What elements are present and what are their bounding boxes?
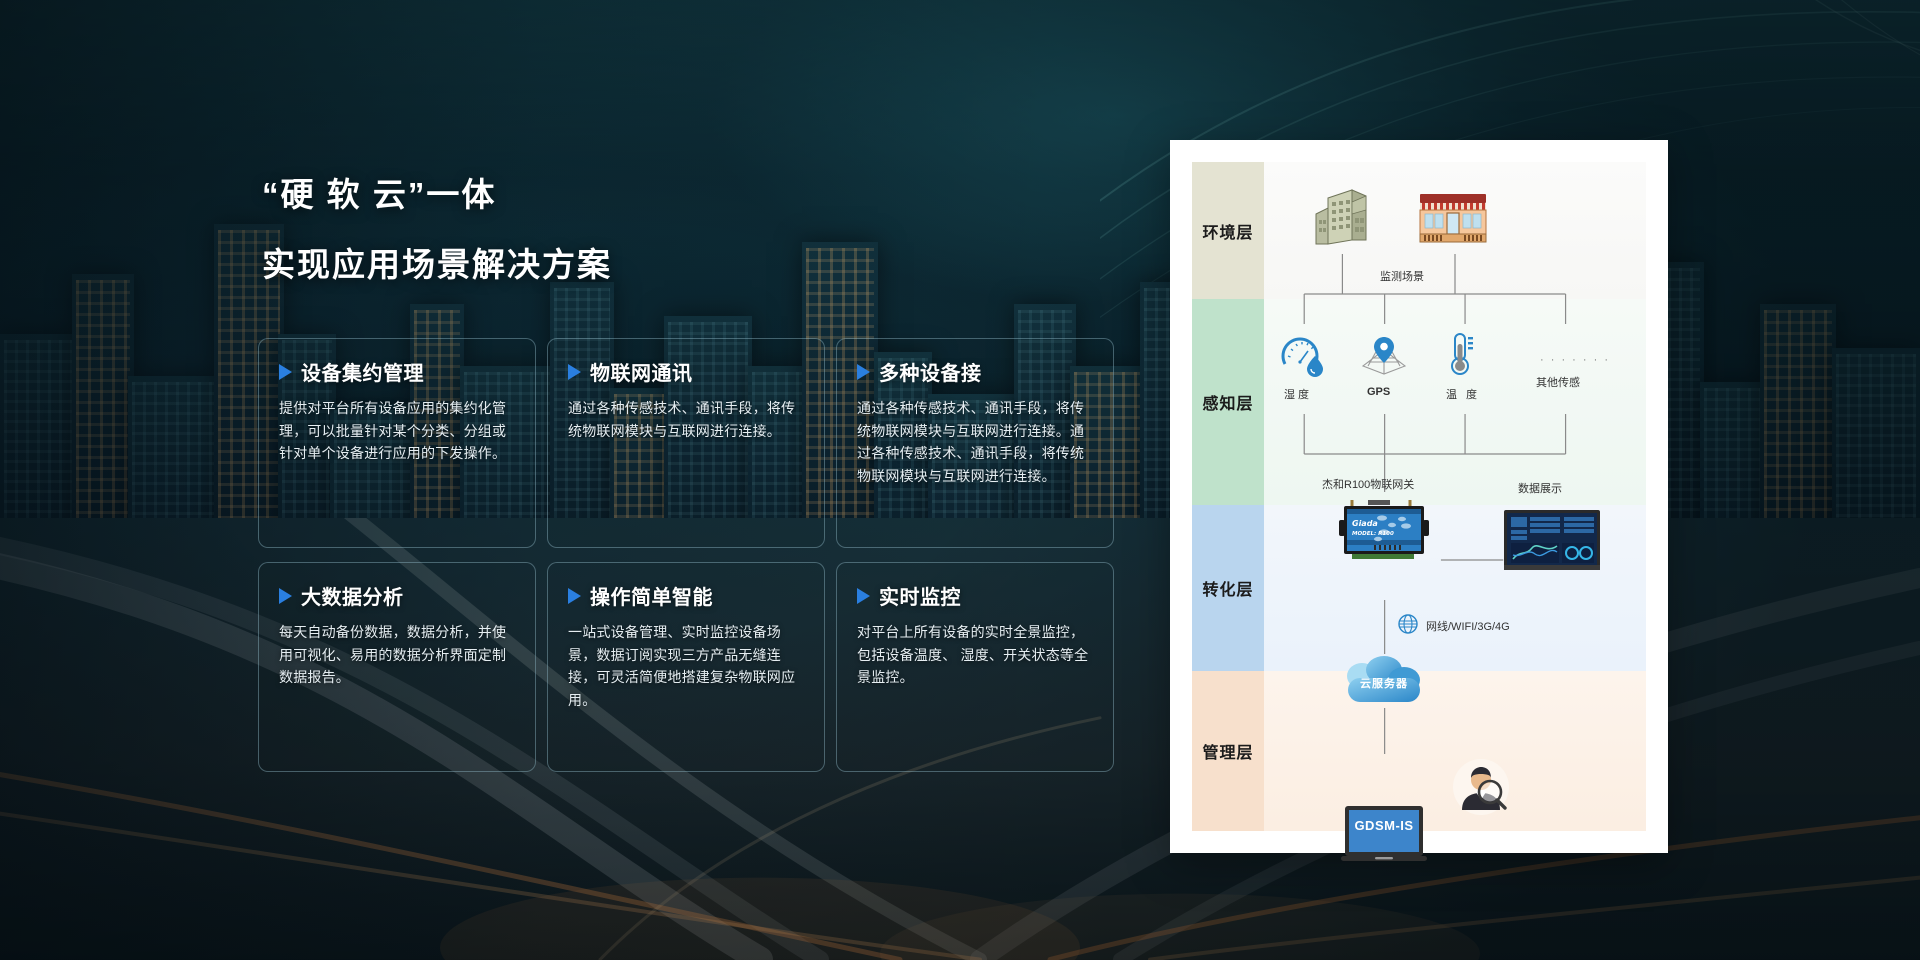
card-header: 设备集约管理 xyxy=(279,357,515,386)
layer-label: 环境层 xyxy=(1202,219,1253,243)
sensor-label-humidity: 湿度 xyxy=(1284,386,1312,402)
page-headline: “硬 软 云”一体 实现应用场景解决方案 xyxy=(262,168,612,286)
card-header: 大数据分析 xyxy=(279,581,515,610)
card-header: 多种设备接 xyxy=(857,357,1093,386)
sensor-label-temperature: 温 度 xyxy=(1446,386,1480,402)
layer-sensing: 感知层 xyxy=(1192,299,1264,505)
svg-text:MODEL: R100: MODEL: R100 xyxy=(1352,531,1394,537)
svg-text:Giada: Giada xyxy=(1352,519,1378,528)
feature-card-device-management[interactable]: 设备集约管理 提供对平台所有设备应用的集约化管理，可以批量针对某个分类、分组或针… xyxy=(258,338,536,548)
cloud-server-label: 云服务器 xyxy=(1340,654,1428,706)
triangle-bullet-icon xyxy=(568,588,581,604)
shop-storefront-icon xyxy=(1416,192,1490,249)
globe-network-icon xyxy=(1398,614,1418,639)
gdsm-is-platform-icon[interactable]: GDSM-IS xyxy=(1341,806,1427,864)
layer-conversion: 转化层 xyxy=(1192,505,1264,671)
triangle-bullet-icon xyxy=(857,364,870,380)
network-label: 网线/WIFI/3G/4G xyxy=(1426,618,1510,634)
feature-card-simple-smart-operation[interactable]: 操作简单智能 一站式设备管理、实时监控设备场景，数据订阅实现三方产品无缝连接，可… xyxy=(547,562,825,772)
architecture-diagram-panel: 环境层 感知层 转化层 管理层 xyxy=(1170,140,1668,853)
user-with-magnifier-icon xyxy=(1452,758,1510,816)
feature-card-realtime-monitoring[interactable]: 实时监控 对平台上所有设备的实时全景监控，包括设备温度、 湿度、开关状态等全景监… xyxy=(836,562,1114,772)
card-body-text: 每天自动备份数据，数据分析，并使用可视化、易用的数据分析界面定制数据报告。 xyxy=(279,621,515,689)
card-body-text: 通过各种传感技术、通讯手段，将传统物联网模块与互联网进行连接。通过各种传感技术、… xyxy=(857,397,1093,488)
headline-line-2: 实现应用场景解决方案 xyxy=(262,238,612,286)
triangle-bullet-icon xyxy=(279,588,292,604)
triangle-bullet-icon xyxy=(568,364,581,380)
office-building-icon xyxy=(1308,188,1374,255)
triangle-bullet-icon xyxy=(857,588,870,604)
data-dashboard-monitor-icon xyxy=(1504,510,1600,575)
gateway-caption: 杰和R100物联网关 xyxy=(1322,476,1414,492)
card-title: 设备集约管理 xyxy=(301,357,424,386)
layer-label: 转化层 xyxy=(1202,576,1253,600)
card-header: 实时监控 xyxy=(857,581,1093,610)
card-body-text: 一站式设备管理、实时监控设备场景，数据订阅实现三方产品无缝连接，可灵活简便地搭建… xyxy=(568,621,804,712)
headline-line-1: “硬 软 云”一体 xyxy=(262,168,612,216)
gdsm-is-label: GDSM-IS xyxy=(1341,818,1427,833)
feature-card-grid: 设备集约管理 提供对平台所有设备应用的集约化管理，可以批量针对某个分类、分组或针… xyxy=(258,338,1114,772)
card-title: 多种设备接 xyxy=(879,357,982,386)
monitoring-scenario-label: 监测场景 xyxy=(1380,268,1424,284)
layer-management: 管理层 xyxy=(1192,671,1264,831)
card-title: 物联网通讯 xyxy=(590,357,693,386)
feature-card-multi-device-access[interactable]: 多种设备接 通过各种传感技术、通讯手段，将传统物联网模块与互联网进行连接。通过各… xyxy=(836,338,1114,548)
layer-label: 管理层 xyxy=(1202,739,1253,763)
layer-environment: 环境层 xyxy=(1192,162,1264,299)
triangle-bullet-icon xyxy=(279,364,292,380)
card-title: 实时监控 xyxy=(879,581,961,610)
layer-label: 感知层 xyxy=(1202,390,1253,414)
card-body-text: 对平台上所有设备的实时全景监控，包括设备温度、 湿度、开关状态等全景监控。 xyxy=(857,621,1093,689)
card-body-text: 提供对平台所有设备应用的集约化管理，可以批量针对某个分类、分组或针对单个设备进行… xyxy=(279,397,515,465)
card-title: 操作简单智能 xyxy=(590,581,713,610)
diagram-canvas: 监测场景 湿度 xyxy=(1264,162,1646,831)
card-header: 操作简单智能 xyxy=(568,581,804,610)
data-display-caption: 数据展示 xyxy=(1518,480,1562,496)
layer-legend-column: 环境层 感知层 转化层 管理层 xyxy=(1192,162,1264,831)
cloud-server-icon[interactable]: 云服务器 xyxy=(1340,654,1428,706)
gps-pin-icon xyxy=(1361,334,1407,383)
iot-gateway-device-icon: Giada MODEL: R100 xyxy=(1338,498,1430,565)
card-title: 大数据分析 xyxy=(301,581,404,610)
card-body-text: 通过各种传感技术、通讯手段，将传统物联网模块与互联网进行连接。 xyxy=(568,397,804,442)
humidity-gauge-icon xyxy=(1281,334,1327,383)
feature-card-iot-communication[interactable]: 物联网通讯 通过各种传感技术、通讯手段，将传统物联网模块与互联网进行连接。 xyxy=(547,338,825,548)
sensor-label-other: 其他传感 xyxy=(1536,374,1580,390)
other-sensor-dots-icon: · · · · · · · xyxy=(1540,354,1610,366)
card-header: 物联网通讯 xyxy=(568,357,804,386)
sensor-label-gps: GPS xyxy=(1367,386,1390,398)
feature-card-big-data-analysis[interactable]: 大数据分析 每天自动备份数据，数据分析，并使用可视化、易用的数据分析界面定制数据… xyxy=(258,562,536,772)
connector-lines xyxy=(1264,162,1646,831)
thermometer-icon xyxy=(1447,332,1481,383)
